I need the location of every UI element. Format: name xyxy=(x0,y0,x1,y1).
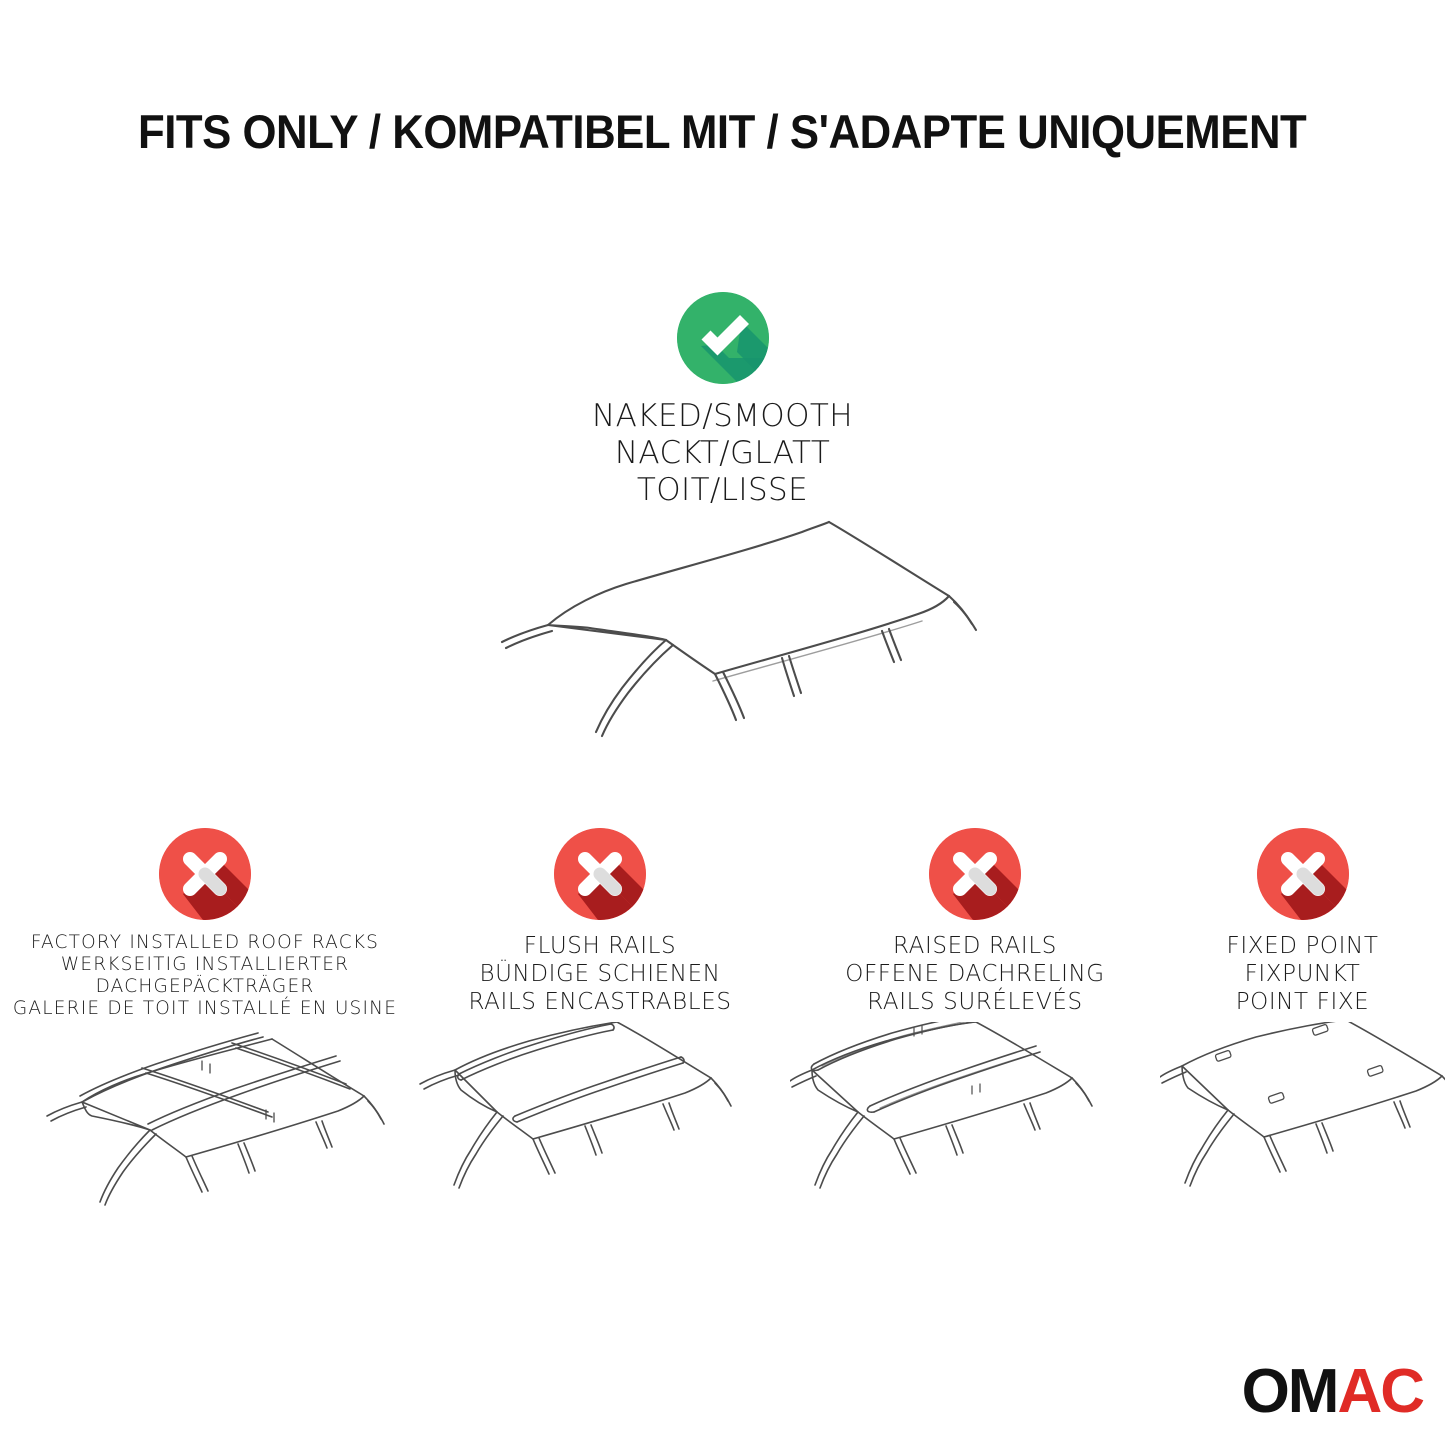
incompatible-item-fixed-point: FIXED POINT FIXPUNKT POINT FIXE xyxy=(1160,828,1445,1237)
check-circle-icon xyxy=(677,292,769,384)
label-line-de: BÜNDIGE SCHIENEN xyxy=(468,960,731,988)
label-line-en: FACTORY INSTALLED ROOF RACKS xyxy=(13,932,397,954)
label-line-fr: RAILS SURÉLEVÉS xyxy=(845,988,1104,1016)
label-line-en: FLUSH RAILS xyxy=(468,932,731,960)
label-line-de: FIXPUNKT xyxy=(1227,960,1379,988)
car-roof-naked-smooth-illustration xyxy=(430,492,1030,757)
label-line-fr: GALERIE DE TOIT INSTALLÉ EN USINE xyxy=(13,998,397,1020)
logo-text-red: AC xyxy=(1337,1357,1423,1426)
incompatible-item-flush-rails: FLUSH RAILS BÜNDIGE SCHIENEN RAILS ENCAS… xyxy=(410,828,790,1237)
cross-circle-icon xyxy=(554,828,646,920)
incompatible-label-fixed-point: FIXED POINT FIXPUNKT POINT FIXE xyxy=(1227,932,1379,1016)
cross-circle-icon xyxy=(159,828,251,920)
incompatible-columns: FACTORY INSTALLED ROOF RACKS WERKSEITIG … xyxy=(0,828,1445,1241)
car-roof-raised-rails-illustration xyxy=(790,1022,1160,1237)
label-line-en: FIXED POINT xyxy=(1227,932,1379,960)
label-line-de: OFFENE DACHRELING xyxy=(845,960,1104,988)
incompatible-label-flush-rails: FLUSH RAILS BÜNDIGE SCHIENEN RAILS ENCAS… xyxy=(468,932,731,1016)
label-line-fr: POINT FIXE xyxy=(1227,988,1379,1016)
page-title: FITS ONLY / KOMPATIBEL MIT / S'ADAPTE UN… xyxy=(138,104,1306,159)
car-roof-flush-rails-illustration xyxy=(410,1022,790,1237)
label-line-de-1: WERKSEITIG INSTALLIERTER xyxy=(13,954,397,976)
cross-circle-icon xyxy=(929,828,1021,920)
compatible-label-de: NACKT/GLATT xyxy=(592,435,853,472)
car-roof-fixed-point-illustration xyxy=(1160,1022,1445,1237)
compatible-section: NAKED/SMOOTH NACKT/GLATT TOIT/LISSE xyxy=(0,292,1445,509)
compatible-label-en: NAKED/SMOOTH xyxy=(592,398,853,435)
label-line-en: RAISED RAILS xyxy=(845,932,1104,960)
incompatible-label-raised-rails: RAISED RAILS OFFENE DACHRELING RAILS SUR… xyxy=(845,932,1104,1016)
logo-text-black: OM xyxy=(1242,1357,1338,1426)
label-line-fr: RAILS ENCASTRABLES xyxy=(468,988,731,1016)
incompatible-item-raised-rails: RAISED RAILS OFFENE DACHRELING RAILS SUR… xyxy=(790,828,1160,1237)
car-roof-factory-rack-illustration xyxy=(0,1026,410,1241)
header-bar: FITS ONLY / KOMPATIBEL MIT / S'ADAPTE UN… xyxy=(0,104,1445,159)
incompatible-item-factory-rack: FACTORY INSTALLED ROOF RACKS WERKSEITIG … xyxy=(0,828,410,1241)
cross-circle-icon xyxy=(1257,828,1349,920)
label-line-de-2: DACHGEPÄCKTRÄGER xyxy=(13,976,397,998)
omac-logo: OMAC xyxy=(1242,1361,1423,1423)
incompatible-label-factory-rack: FACTORY INSTALLED ROOF RACKS WERKSEITIG … xyxy=(13,932,397,1020)
